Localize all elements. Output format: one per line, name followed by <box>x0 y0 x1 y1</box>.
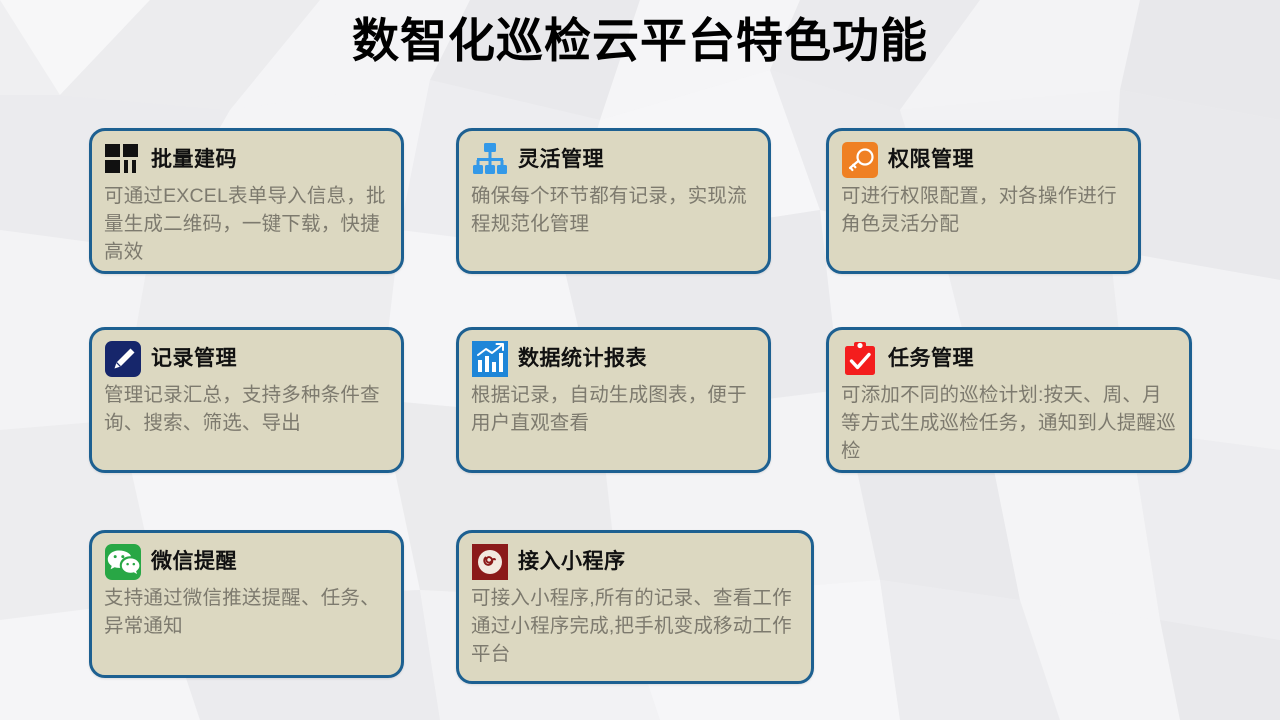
card-description: 可通过EXCEL表单导入信息，批量生成二维码，一键下载，快捷高效 <box>104 183 389 267</box>
bar-chart-icon <box>471 340 509 378</box>
card-title: 接入小程序 <box>518 543 626 581</box>
feature-card-batch-code[interactable]: 批量建码 可通过EXCEL表单导入信息，批量生成二维码，一键下载，快捷高效 <box>89 128 404 274</box>
card-description: 确保每个环节都有记录，实现流程规范化管理 <box>471 183 756 239</box>
wechat-icon <box>104 543 142 581</box>
card-header: 记录管理 <box>104 340 389 380</box>
card-description: 根据记录，自动生成图表，便于用户直观查看 <box>471 382 756 438</box>
qr-grid-icon <box>104 141 142 179</box>
feature-card-flexible-management[interactable]: 灵活管理 确保每个环节都有记录，实现流程规范化管理 <box>456 128 771 274</box>
card-header: 灵活管理 <box>471 141 756 181</box>
feature-card-task-management[interactable]: 任务管理 可添加不同的巡检计划:按天、周、月等方式生成巡检任务，通知到人提醒巡检 <box>826 327 1192 473</box>
card-title: 任务管理 <box>888 340 974 378</box>
card-title: 记录管理 <box>151 340 237 378</box>
feature-card-permission-management[interactable]: 权限管理 可进行权限配置，对各操作进行角色灵活分配 <box>826 128 1141 274</box>
card-header: 权限管理 <box>841 141 1126 181</box>
page-title: 数智化巡检云平台特色功能 <box>0 14 1280 68</box>
card-header: 批量建码 <box>104 141 389 181</box>
clipboard-check-icon <box>841 340 879 378</box>
mini-program-icon <box>471 543 509 581</box>
card-title: 数据统计报表 <box>518 340 647 378</box>
card-header: 数据统计报表 <box>471 340 756 380</box>
org-chart-icon <box>471 141 509 179</box>
card-title: 灵活管理 <box>518 141 604 179</box>
card-description: 可接入小程序,所有的记录、查看工作通过小程序完成,把手机变成移动工作平台 <box>471 585 799 669</box>
card-description: 可进行权限配置，对各操作进行角色灵活分配 <box>841 183 1126 239</box>
card-title: 权限管理 <box>888 141 974 179</box>
pencil-icon <box>104 340 142 378</box>
card-description: 管理记录汇总，支持多种条件查询、搜索、筛选、导出 <box>104 382 389 438</box>
feature-card-mini-program[interactable]: 接入小程序 可接入小程序,所有的记录、查看工作通过小程序完成,把手机变成移动工作… <box>456 530 814 684</box>
feature-card-statistics-report[interactable]: 数据统计报表 根据记录，自动生成图表，便于用户直观查看 <box>456 327 771 473</box>
card-description: 支持通过微信推送提醒、任务、异常通知 <box>104 585 389 641</box>
feature-card-record-management[interactable]: 记录管理 管理记录汇总，支持多种条件查询、搜索、筛选、导出 <box>89 327 404 473</box>
card-header: 微信提醒 <box>104 543 389 583</box>
card-title: 微信提醒 <box>151 543 237 581</box>
feature-card-wechat-reminder[interactable]: 微信提醒 支持通过微信推送提醒、任务、异常通知 <box>89 530 404 678</box>
card-description: 可添加不同的巡检计划:按天、周、月等方式生成巡检任务，通知到人提醒巡检 <box>841 382 1177 466</box>
card-header: 任务管理 <box>841 340 1177 380</box>
key-icon <box>841 141 879 179</box>
card-title: 批量建码 <box>151 141 237 179</box>
card-header: 接入小程序 <box>471 543 799 583</box>
